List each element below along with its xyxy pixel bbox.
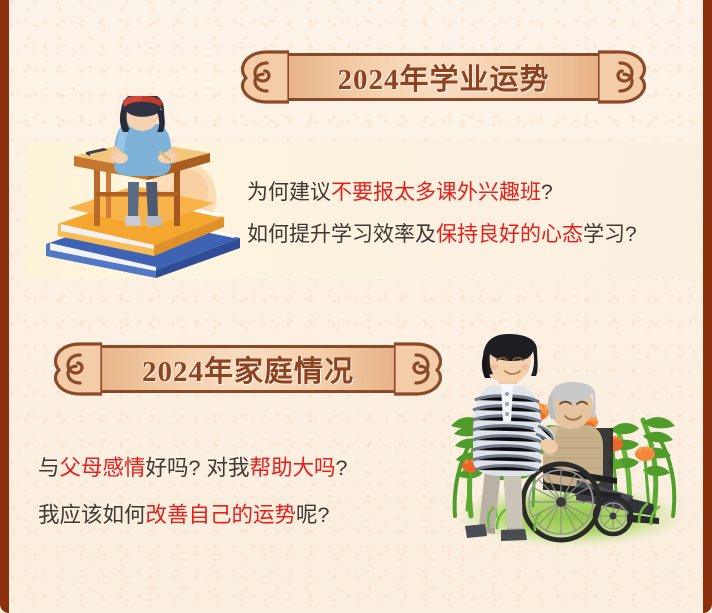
plain-phrase: 学习? <box>583 223 637 246</box>
page-frame-left <box>0 0 9 613</box>
question-line: 与父母感情好吗? 对我帮助大吗? <box>38 445 347 492</box>
plain-phrase: 与 <box>38 456 60 480</box>
plain-phrase: ? <box>541 181 553 204</box>
fortune-infographic-page: 2024年学业运势 <box>0 0 712 613</box>
highlighted-phrase: 不要报太多课外兴趣班 <box>331 181 541 204</box>
highlighted-phrase: 父母感情 <box>60 456 146 480</box>
student-at-desk-illustration <box>28 96 254 278</box>
section-banner-study: 2024年学业运势 <box>237 49 650 105</box>
highlighted-phrase: 改善自己的运势 <box>146 503 297 527</box>
family-caregiver-illustration <box>437 330 703 558</box>
plain-phrase: 好吗? 对我 <box>146 456 250 480</box>
question-line: 我应该如何改善自己的运势呢? <box>38 492 347 539</box>
family-question-list: 与父母感情好吗? 对我帮助大吗?我应该如何改善自己的运势呢? <box>38 445 347 539</box>
plain-phrase: 如何提升学习效率及 <box>247 223 436 246</box>
plain-phrase: 我应该如何 <box>38 503 146 527</box>
banner-title-study: 2024年学业运势 <box>263 53 624 101</box>
question-line: 为何建议不要报太多课外兴趣班? <box>247 172 637 214</box>
banner-title-family: 2024年家庭情况 <box>76 345 420 393</box>
plain-phrase: 为何建议 <box>247 181 331 204</box>
plain-phrase: 呢? <box>296 503 329 527</box>
page-frame-right <box>703 0 712 613</box>
question-line: 如何提升学习效率及保持良好的心态学习? <box>247 214 637 256</box>
plain-phrase: ? <box>335 456 347 480</box>
study-question-list: 为何建议不要报太多课外兴趣班?如何提升学习效率及保持良好的心态学习? <box>247 172 637 256</box>
highlighted-phrase: 帮助大吗 <box>249 456 335 480</box>
highlighted-phrase: 保持良好的心态 <box>436 223 583 246</box>
section-banner-family: 2024年家庭情况 <box>50 341 446 397</box>
